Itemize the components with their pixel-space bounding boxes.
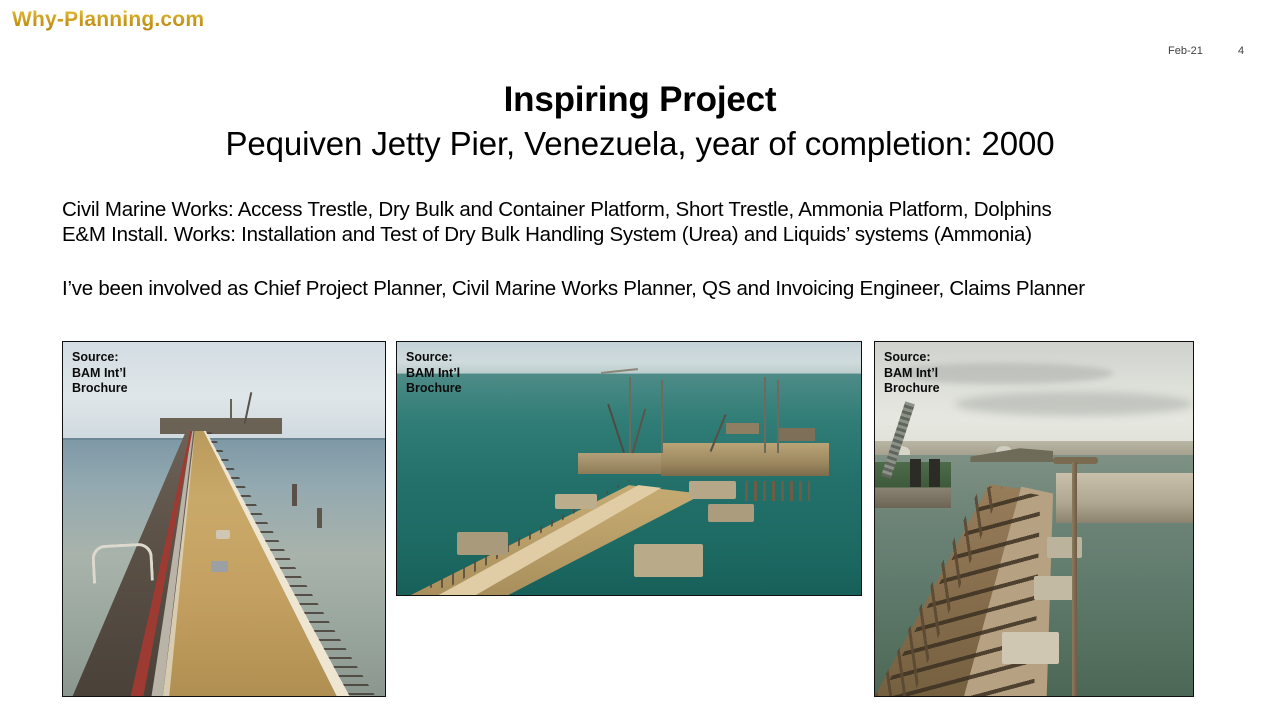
mooring-dolphin <box>726 423 758 434</box>
light-mast <box>1072 462 1077 696</box>
photo-source-caption: Source: BAM Int’l Brochure <box>884 350 940 397</box>
mooring-pile <box>317 508 322 528</box>
pile-cap-caisson <box>689 481 735 499</box>
barge-stack <box>929 459 940 487</box>
body-text-block: Civil Marine Works: Access Trestle, Dry … <box>62 197 1252 301</box>
horizon-line <box>63 438 385 440</box>
source-caption-line-1: Source: <box>406 350 462 366</box>
source-caption-line-2: BAM Int’l <box>72 366 128 382</box>
scope-line-em-install-works: E&M Install. Works: Installation and Tes… <box>62 222 1252 247</box>
ammonia-platform-deck <box>578 453 671 473</box>
slide-date: Feb-21 <box>1168 45 1203 57</box>
vehicle-on-trestle <box>216 530 230 539</box>
source-caption-line-3: Brochure <box>72 381 128 397</box>
source-caption-line-2: BAM Int’l <box>406 366 462 382</box>
photo-source-caption: Source: BAM Int’l Brochure <box>72 350 128 397</box>
mooring-dolphin <box>777 428 814 441</box>
photo-2-scene <box>397 342 861 595</box>
horizon-line <box>397 373 861 375</box>
project-photo-dry-bulk-platform: Source: BAM Int’l Brochure <box>396 341 862 596</box>
pile-cap-caisson <box>1034 576 1075 601</box>
title-block: Inspiring Project Pequiven Jetty Pier, V… <box>0 80 1280 164</box>
cloud <box>955 392 1194 417</box>
vehicle-on-trestle <box>211 561 228 572</box>
light-mast <box>777 380 779 453</box>
pile-cap-caisson <box>708 504 754 522</box>
source-caption-line-1: Source: <box>884 350 940 366</box>
light-mast <box>661 380 663 453</box>
role-line-involvement: I’ve been involved as Chief Project Plan… <box>62 276 1252 301</box>
crane-mast-icon <box>230 399 232 424</box>
pile-cap-caisson <box>555 494 597 509</box>
mooring-pile <box>292 484 297 506</box>
distant-platform <box>160 418 282 434</box>
source-caption-line-3: Brochure <box>884 381 940 397</box>
source-caption-line-2: BAM Int’l <box>884 366 940 382</box>
dry-bulk-platform-deck <box>661 443 828 476</box>
photo-source-caption: Source: BAM Int’l Brochure <box>406 350 462 397</box>
page-subtitle: Pequiven Jetty Pier, Venezuela, year of … <box>0 124 1280 164</box>
page-title: Inspiring Project <box>0 80 1280 120</box>
site-brand-logo: Why-Planning.com <box>12 8 204 32</box>
pile-cap-caisson <box>457 532 508 555</box>
platform-piles <box>745 481 810 501</box>
barge-stack <box>910 459 921 487</box>
project-photo-access-trestle: Source: BAM Int’l Brochure <box>62 341 386 697</box>
light-mast <box>764 377 766 453</box>
pipe-expansion-loop <box>91 542 154 584</box>
source-caption-line-1: Source: <box>72 350 128 366</box>
project-photo-construction-works: Source: BAM Int’l Brochure <box>874 341 1194 697</box>
pile-cap-caisson <box>1002 632 1059 664</box>
pile-cap-caisson <box>634 544 704 577</box>
slide-page-number: 4 <box>1238 45 1244 57</box>
scope-line-civil-marine-works: Civil Marine Works: Access Trestle, Dry … <box>62 197 1252 222</box>
source-caption-line-3: Brochure <box>406 381 462 397</box>
light-mast <box>629 377 631 453</box>
